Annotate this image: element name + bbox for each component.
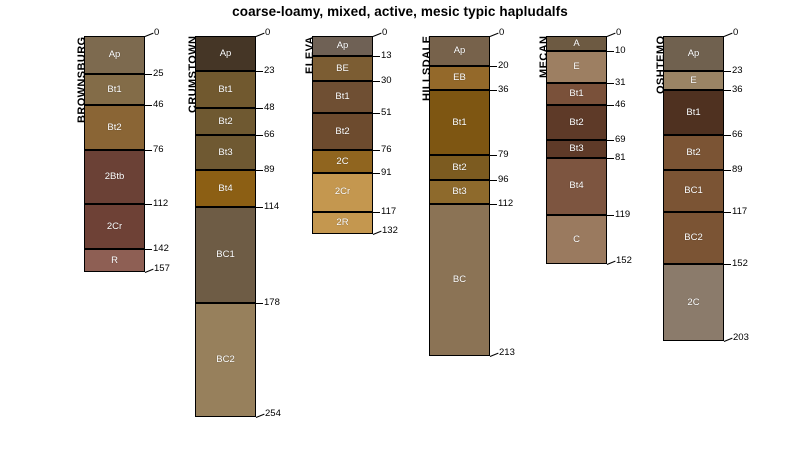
horizon-block[interactable]: Ap [312,36,373,56]
depth-tick-mark [724,33,733,37]
depth-tick-label: 152 [616,256,632,266]
horizon-label: Bt3 [218,148,232,158]
depth-tick-label: 46 [615,100,626,110]
horizon-block[interactable]: Ap [429,36,490,66]
depth-tick-mark [373,113,380,114]
horizon-block[interactable]: Bt2 [84,105,145,150]
depth-tick-label: 142 [153,244,169,254]
horizon-label: Ap [337,41,349,51]
depth-tick-label: 254 [265,409,281,419]
depth-tick-label: 0 [265,28,270,38]
depth-tick-label: 203 [733,333,749,343]
depth-tick-mark [256,108,263,109]
depth-tick-label: 0 [616,28,621,38]
horizon-block[interactable]: Bt3 [195,135,256,170]
depth-tick-mark [607,215,614,216]
depth-tick-label: 23 [264,66,275,76]
depth-tick-label: 76 [381,145,392,155]
depth-tick-mark [145,74,152,75]
depth-tick-mark [490,352,499,356]
horizon-label: Ap [688,49,700,59]
depth-tick-mark [607,158,614,159]
horizon-label: E [573,62,579,72]
horizon-block[interactable]: Bt1 [663,90,724,135]
depth-tick-mark [490,155,497,156]
soil-profile-chart: coarse-loamy, mixed, active, mesic typic… [0,0,800,450]
horizon-label: BC1 [684,186,702,196]
depth-tick-mark [607,140,614,141]
depth-tick-mark [145,33,154,37]
depth-tick-mark [724,71,731,72]
depth-tick-mark [256,414,265,418]
horizon-label: Bt2 [218,117,232,127]
horizon-block[interactable]: E [663,71,724,91]
horizon-block[interactable]: Bt1 [429,90,490,155]
horizon-label: Bt2 [569,118,583,128]
horizon-block[interactable]: BC [429,204,490,356]
depth-tick-mark [145,249,152,250]
horizon-label: 2C [336,157,348,167]
horizon-label: 2Btb [105,172,125,182]
horizon-block[interactable]: BC2 [663,212,724,265]
depth-tick-label: 152 [732,259,748,269]
depth-tick-label: 117 [732,207,747,217]
horizon-label: 2C [687,298,699,308]
depth-tick-label: 117 [381,207,396,217]
depth-tick-mark [145,204,152,205]
horizon-block[interactable]: Bt2 [312,113,373,151]
depth-tick-label: 36 [498,85,509,95]
depth-tick-label: 13 [381,51,392,61]
horizon-label: BE [336,64,349,74]
horizon-block[interactable]: R [84,249,145,272]
horizon-label: Bt4 [569,181,583,191]
depth-tick-label: 20 [498,61,509,71]
horizon-label: Bt2 [686,148,700,158]
depth-tick-label: 10 [615,46,626,56]
depth-tick-label: 119 [615,210,630,220]
depth-tick-label: 76 [153,145,164,155]
depth-tick-mark [373,150,380,151]
depth-tick-mark [256,170,263,171]
horizon-block[interactable]: Ap [195,36,256,71]
depth-tick-mark [373,173,380,174]
depth-tick-mark [373,212,380,213]
depth-tick-mark [724,264,731,265]
horizon-block[interactable]: BC1 [663,170,724,212]
depth-tick-mark [373,231,382,235]
depth-tick-mark [724,135,731,136]
depth-tick-label: 66 [264,130,275,140]
horizon-block[interactable]: Ap [663,36,724,71]
horizon-label: EB [453,73,466,83]
horizon-block[interactable]: Ap [84,36,145,74]
horizon-label: Bt1 [335,92,349,102]
horizon-label: Ap [109,50,121,60]
depth-tick-label: 89 [264,165,275,175]
horizon-block[interactable]: Bt3 [546,140,607,158]
horizon-block[interactable]: 2Cr [312,173,373,212]
horizon-block[interactable]: A [546,36,607,51]
depth-tick-label: 25 [153,69,164,79]
depth-tick-label: 0 [154,28,159,38]
horizon-label: Bt3 [452,187,466,197]
depth-tick-mark [145,105,152,106]
depth-tick-label: 48 [264,103,275,113]
depth-tick-mark [373,33,382,37]
horizon-block[interactable]: E [546,51,607,83]
horizon-label: Bt2 [452,163,466,173]
horizon-label: 2Cr [107,222,122,232]
depth-tick-label: 81 [615,153,626,163]
horizon-block[interactable]: C [546,215,607,265]
horizon-block[interactable]: Bt1 [546,83,607,106]
horizon-label: Bt1 [569,89,583,99]
depth-tick-label: 114 [264,202,279,212]
depth-tick-label: 31 [615,78,626,88]
horizon-block[interactable]: Bt2 [546,105,607,140]
depth-tick-mark [607,33,616,37]
depth-tick-label: 36 [732,85,743,95]
depth-tick-label: 91 [381,168,392,178]
horizon-block[interactable]: Bt1 [312,81,373,113]
horizon-block[interactable]: Bt1 [195,71,256,109]
depth-tick-mark [145,150,152,151]
depth-tick-mark [373,56,380,57]
depth-tick-label: 46 [153,100,164,110]
depth-tick-label: 30 [381,76,392,86]
depth-tick-mark [607,105,614,106]
horizon-block[interactable]: Bt3 [429,180,490,204]
depth-tick-mark [607,83,614,84]
depth-tick-label: 79 [498,150,509,160]
horizon-block[interactable]: 2R [312,212,373,235]
depth-tick-mark [256,207,263,208]
horizon-label: Bt1 [107,85,121,95]
depth-tick-label: 178 [264,298,280,308]
horizon-label: Bt1 [218,85,232,95]
horizon-block[interactable]: Bt2 [429,155,490,181]
horizon-label: Bt4 [218,184,232,194]
depth-tick-label: 66 [732,130,743,140]
depth-tick-label: 112 [498,199,513,209]
depth-tick-mark [724,212,731,213]
depth-tick-label: 112 [153,199,168,209]
depth-tick-mark [490,33,499,37]
horizon-label: BC2 [684,233,702,243]
depth-tick-label: 23 [732,66,743,76]
depth-tick-label: 132 [382,226,398,236]
depth-tick-mark [724,337,733,341]
horizon-block[interactable]: Bt4 [546,158,607,215]
depth-tick-mark [373,81,380,82]
horizon-label: 2R [336,218,348,228]
depth-tick-label: 157 [154,264,170,274]
horizon-label: A [573,39,579,49]
depth-tick-label: 51 [381,108,392,118]
depth-tick-mark [724,170,731,171]
horizon-block[interactable]: EB [429,66,490,90]
horizon-label: Bt3 [569,144,583,154]
depth-tick-mark [607,261,616,265]
horizon-block[interactable]: BE [312,56,373,82]
horizon-label: BC2 [216,355,234,365]
depth-tick-mark [145,268,154,272]
depth-tick-label: 0 [499,28,504,38]
horizon-block[interactable]: 2Btb [84,150,145,204]
depth-tick-label: 69 [615,135,626,145]
horizon-label: E [690,76,696,86]
depth-tick-label: 96 [498,175,509,185]
horizon-label: Bt1 [686,108,700,118]
horizon-label: Ap [454,46,466,56]
page-title: coarse-loamy, mixed, active, mesic typic… [0,4,800,19]
depth-tick-label: 89 [732,165,743,175]
horizon-label: 2Cr [335,187,350,197]
horizon-label: R [111,256,118,266]
horizon-block[interactable]: Bt2 [663,135,724,170]
horizon-label: Bt2 [107,123,121,133]
horizon-block[interactable]: BC2 [195,303,256,417]
horizon-block[interactable]: BC1 [195,207,256,303]
horizon-label: BC [453,275,466,285]
horizon-label: Bt1 [452,118,466,128]
depth-tick-mark [490,180,497,181]
depth-tick-mark [256,33,265,37]
horizon-block[interactable]: 2C [312,150,373,173]
horizon-block[interactable]: Bt1 [84,74,145,106]
depth-tick-mark [490,204,497,205]
horizon-block[interactable]: Bt2 [195,108,256,135]
horizon-label: Bt2 [335,127,349,137]
horizon-block[interactable]: 2C [663,264,724,341]
horizon-label: C [573,235,580,245]
horizon-label: Ap [220,49,232,59]
depth-tick-mark [724,90,731,91]
depth-tick-mark [607,51,614,52]
horizon-label: BC1 [216,250,234,260]
depth-tick-label: 0 [382,28,387,38]
depth-tick-label: 0 [733,28,738,38]
depth-tick-mark [490,66,497,67]
horizon-block[interactable]: Bt4 [195,170,256,208]
depth-tick-mark [256,71,263,72]
depth-tick-mark [256,303,263,304]
depth-tick-mark [256,135,263,136]
horizon-block[interactable]: 2Cr [84,204,145,249]
depth-tick-label: 213 [499,348,515,358]
depth-tick-mark [490,90,497,91]
